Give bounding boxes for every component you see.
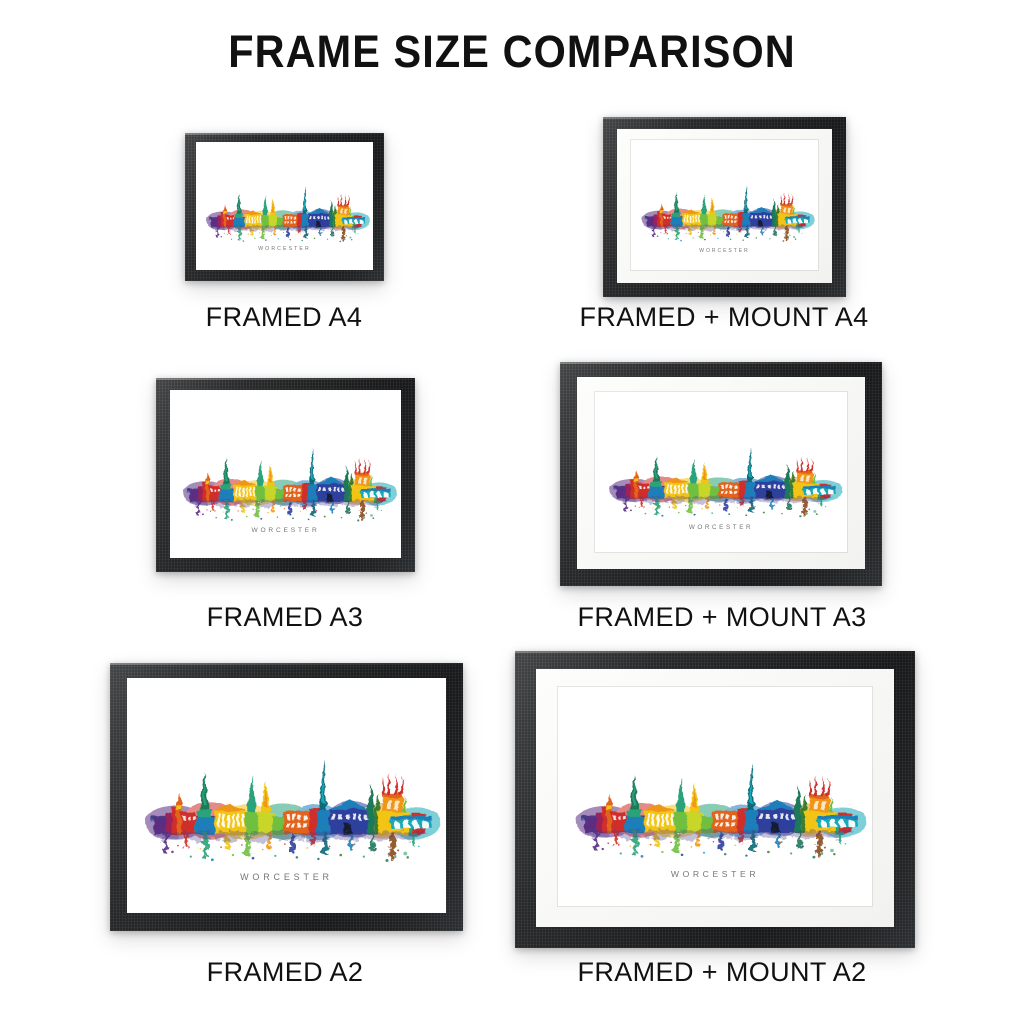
frame-rebate: WORCESTER xyxy=(127,678,446,913)
mount-bevel-window: WORCESTER xyxy=(595,392,847,552)
artwork-city-name: WORCESTER xyxy=(127,872,446,882)
frame-rebate: WORCESTER xyxy=(196,142,373,270)
frame-cell-framed-mount-a4[interactable]: WORCESTER xyxy=(603,117,846,297)
frame-rebate: WORCESTER xyxy=(170,390,401,558)
artwork-city-name: WORCESTER xyxy=(631,248,818,254)
artwork-print: WORCESTER xyxy=(595,392,847,552)
caption-framed-a2: FRAMED A2 xyxy=(207,957,364,988)
artwork-print: WORCESTER xyxy=(631,140,818,270)
artwork-city-name: WORCESTER xyxy=(196,246,373,252)
frame-cell-framed-mount-a2[interactable]: WORCESTER xyxy=(515,651,915,948)
caption-framed-a3: FRAMED A3 xyxy=(207,602,364,633)
frame-rebate: WORCESTER xyxy=(536,669,894,927)
frame-rebate: WORCESTER xyxy=(577,377,865,569)
artwork-city-name: WORCESTER xyxy=(595,524,847,531)
frame-rebate: WORCESTER xyxy=(617,129,832,283)
caption-framed-a4: FRAMED A4 xyxy=(206,302,363,333)
frame-cell-framed-a3[interactable]: WORCESTER xyxy=(156,378,415,572)
caption-framed-mount-a4: FRAMED + MOUNT A4 xyxy=(579,302,868,333)
frame-cell-framed-a2[interactable]: WORCESTER xyxy=(110,663,463,931)
artwork-print: WORCESTER xyxy=(558,687,872,906)
artwork-city-name: WORCESTER xyxy=(170,527,401,534)
mount-bevel-window: WORCESTER xyxy=(631,140,818,270)
artwork-print: WORCESTER xyxy=(170,390,401,558)
artwork-city-name: WORCESTER xyxy=(558,869,872,879)
caption-framed-mount-a2: FRAMED + MOUNT A2 xyxy=(577,957,866,988)
page-title: FRAME SIZE COMPARISON xyxy=(41,26,983,78)
caption-framed-mount-a3: FRAMED + MOUNT A3 xyxy=(577,602,866,633)
artwork-print: WORCESTER xyxy=(196,142,373,270)
artwork-print: WORCESTER xyxy=(127,678,446,913)
frame-cell-framed-mount-a3[interactable]: WORCESTER xyxy=(560,362,882,586)
mount-bevel-window: WORCESTER xyxy=(558,687,872,906)
frame-cell-framed-a4[interactable]: WORCESTER xyxy=(185,133,384,281)
